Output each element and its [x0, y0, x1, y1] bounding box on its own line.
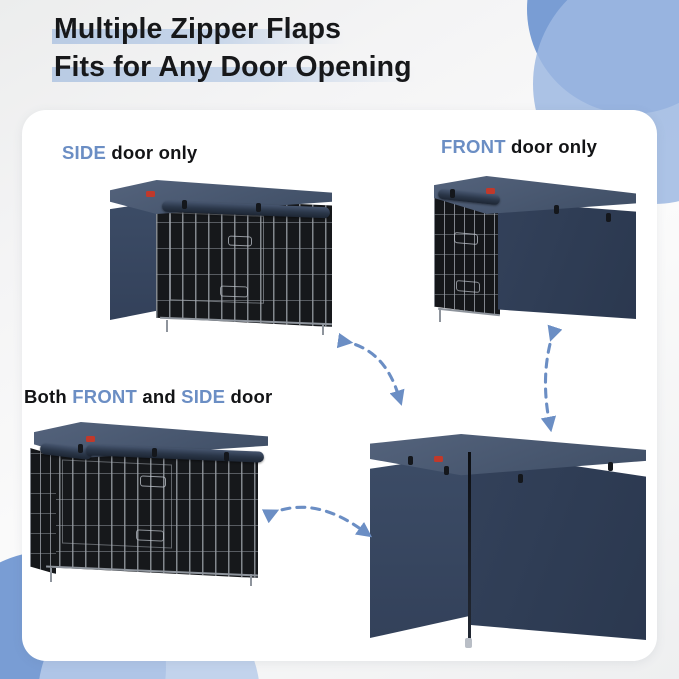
crate2-strap-a [450, 189, 455, 198]
crate3-leg-right [250, 574, 252, 586]
crate4-strap-b [444, 466, 449, 475]
crate1-door-latch [228, 236, 252, 247]
crate3-strap-b [152, 448, 157, 457]
crate3-logo-tab [86, 436, 95, 442]
crate2-door-latch-lower [456, 280, 480, 293]
label-both-suffix: door [225, 386, 272, 407]
crate1-door-latch-lower [220, 285, 248, 297]
label-side-accent: SIDE [62, 142, 106, 163]
label-both-prefix: Both [24, 386, 72, 407]
crate4-logo-tab [434, 456, 443, 462]
crate4-strap-a [408, 456, 413, 465]
label-both-doors: Both FRONT and SIDE door [24, 386, 272, 408]
crate2-side-fabric-face [498, 201, 636, 319]
label-front-rest: door only [506, 136, 597, 157]
crate3-leg-left [50, 568, 52, 582]
crate1-leg-left [166, 320, 168, 332]
crate4-strap-c [518, 474, 523, 483]
crate-fully-covered [368, 432, 650, 658]
decor-circle-top-right-dark [527, 0, 679, 114]
headline-line-1: Multiple Zipper Flaps [52, 10, 345, 48]
label-both-middle: and [137, 386, 181, 407]
crate2-logo-tab [486, 188, 495, 194]
crate-side-door-only [108, 178, 334, 333]
label-side-rest: door only [106, 142, 197, 163]
crate3-latch-lower [136, 529, 164, 541]
crate3-strap-a [78, 444, 83, 453]
headline-line-1-text: Multiple Zipper Flaps [54, 13, 341, 45]
crate1-strap-b [256, 203, 261, 212]
headline-line-2-text: Fits for Any Door Opening [54, 51, 412, 83]
crate4-strap-d [608, 462, 613, 471]
crate3-strap-c [224, 452, 229, 461]
label-both-accent-side: SIDE [181, 386, 225, 407]
crate4-front-fabric-face [468, 450, 646, 640]
crate2-strap-b [554, 205, 559, 214]
crate4-left-fabric-face [370, 454, 470, 638]
crate1-door-frame [170, 212, 264, 304]
label-front-door-only: FRONT door only [441, 136, 597, 158]
crate1-left-fabric-face [110, 202, 158, 320]
crate1-leg-right [322, 324, 324, 335]
headline-line-2: Fits for Any Door Opening [52, 48, 416, 86]
crate4-zipper-pull [465, 638, 472, 648]
crate3-latch-upper [140, 475, 166, 487]
crate2-leg-left [439, 309, 441, 322]
crate2-strap-c [606, 213, 611, 222]
infographic-canvas: Multiple Zipper Flaps Fits for Any Door … [0, 0, 679, 679]
label-side-door-only: SIDE door only [62, 142, 197, 164]
crate-both-doors [28, 418, 276, 588]
headline: Multiple Zipper Flaps Fits for Any Door … [52, 10, 416, 86]
label-front-accent: FRONT [441, 136, 506, 157]
crate-front-door-only [430, 175, 642, 323]
crate1-strap-a [182, 200, 187, 209]
crate3-mesh-left-face [30, 448, 56, 574]
crate2-door-latch-upper [454, 232, 478, 245]
label-both-accent-front: FRONT [72, 386, 137, 407]
crate1-logo-tab [146, 191, 155, 197]
crate4-corner-zipper [468, 452, 471, 642]
